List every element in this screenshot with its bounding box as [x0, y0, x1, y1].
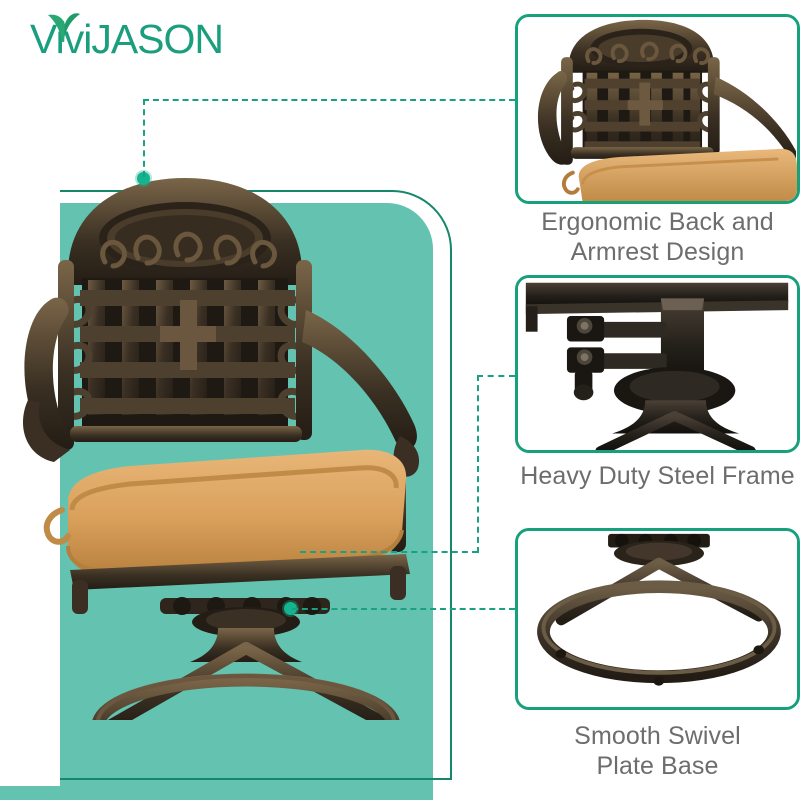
connector-line-1-horizontal: [143, 99, 515, 101]
feature-caption-steel-frame: Heavy Duty Steel Frame: [515, 462, 800, 492]
hero-chair-image: [10, 150, 480, 720]
feature-image-ergonomic-back: [518, 17, 797, 201]
brand-name-part2: JASON: [91, 16, 223, 62]
connector-line-2-horizontal-b: [477, 375, 515, 377]
feature-caption-ergonomic-back: Ergonomic Back and Armrest Design: [515, 208, 800, 267]
connector-line-2-vertical: [477, 375, 479, 553]
feature-caption-swivel-base: Smooth Swivel Plate Base: [515, 722, 800, 781]
feature-image-steel-frame: [518, 278, 797, 450]
feature-panel-ergonomic-back[interactable]: [515, 14, 800, 204]
infographic-canvas: ViviJASON: [0, 0, 800, 800]
feature-panel-steel-frame[interactable]: [515, 275, 800, 453]
feature-panel-swivel-base[interactable]: [515, 528, 800, 710]
brand-logo: ViviJASON: [30, 14, 223, 64]
connector-line-1-vertical: [143, 99, 145, 177]
connector-line-3-horizontal: [292, 608, 515, 610]
connector-line-2-horizontal-a: [300, 551, 478, 553]
feature-image-swivel-base: [518, 531, 797, 707]
leaf-sprout-icon: [39, 8, 85, 42]
